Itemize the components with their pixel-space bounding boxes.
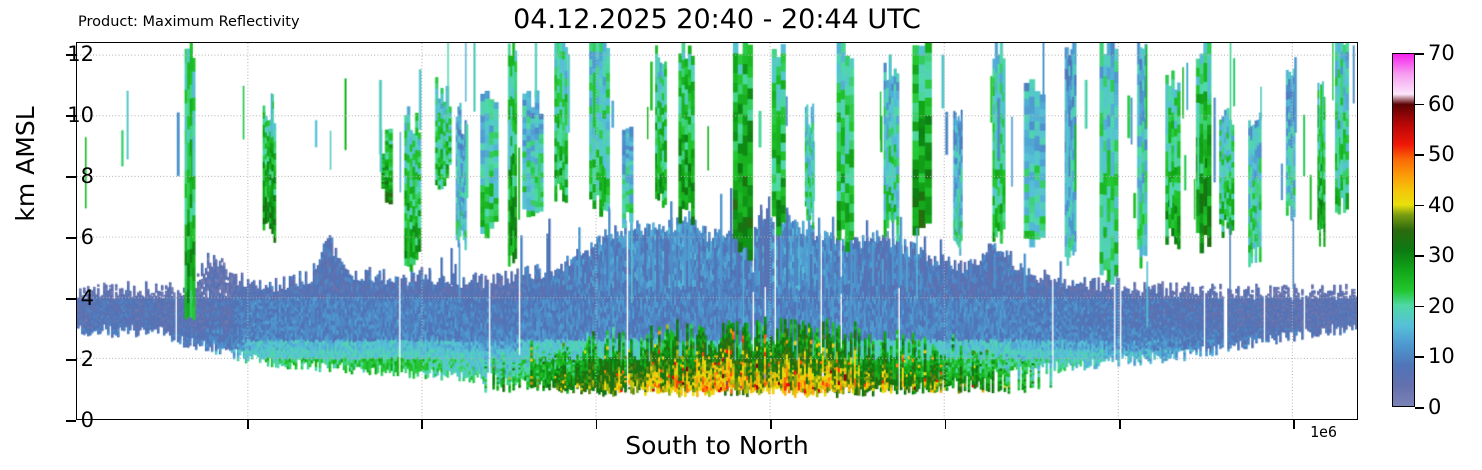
y-tick-mark [66,298,76,300]
colorbar-tick-mark [1415,306,1424,308]
colorbar-tick-mark [1415,104,1424,106]
y-tick-label: 10 [34,105,94,126]
y-tick-label: 8 [34,166,94,187]
reflectivity-heatmap[interactable] [77,43,1357,419]
colorbar-tick-label: 70 [1428,43,1455,64]
colorbar-gradient[interactable] [1392,53,1415,407]
colorbar-tick-label: 10 [1428,346,1455,367]
y-tick-mark [66,176,76,178]
colorbar-tick-label: 30 [1428,245,1455,266]
colorbar-tick-label: 40 [1428,195,1455,216]
y-tick-mark [66,359,76,361]
colorbar-tick-label: 20 [1428,296,1455,317]
x-tick-mark [247,420,249,429]
y-tick-label: 6 [34,227,94,248]
x-tick-mark [945,420,947,429]
x-tick-mark [596,420,598,429]
y-tick-label: 12 [34,44,94,65]
colorbar-tick-label: 50 [1428,144,1455,165]
colorbar-tick-mark [1415,407,1424,409]
y-tick-mark [66,237,76,239]
colorbar-tick-label: 0 [1428,397,1441,418]
radar-cross-section-figure: Product: Maximum Reflectivity 04.12.2025… [0,0,1482,470]
colorbar-tick-mark [1415,53,1424,55]
x-tick-mark [421,420,423,429]
colorbar-tick-label: 60 [1428,94,1455,115]
y-axis-label: km AMSL [12,54,40,274]
x-tick-mark [1293,420,1295,429]
y-tick-mark [66,420,76,422]
page-title: 04.12.2025 20:40 - 20:44 UTC [76,4,1358,36]
x-axis-label: South to North [76,432,1358,460]
y-tick-mark [66,54,76,56]
colorbar-tick-mark [1415,356,1424,358]
colorbar-container[interactable]: 010203040506070 [1392,53,1415,407]
y-tick-label: 0 [34,410,94,431]
x-axis-offset-text: 1e6 [1310,424,1337,441]
x-tick-mark [1119,420,1121,429]
y-tick-label: 4 [34,288,94,309]
colorbar-tick-mark [1415,205,1424,207]
plot-area[interactable] [76,42,1358,420]
y-tick-mark [66,115,76,117]
y-tick-label: 2 [34,349,94,370]
colorbar-tick-mark [1415,154,1424,156]
x-tick-mark [770,420,772,429]
colorbar-tick-mark [1415,255,1424,257]
